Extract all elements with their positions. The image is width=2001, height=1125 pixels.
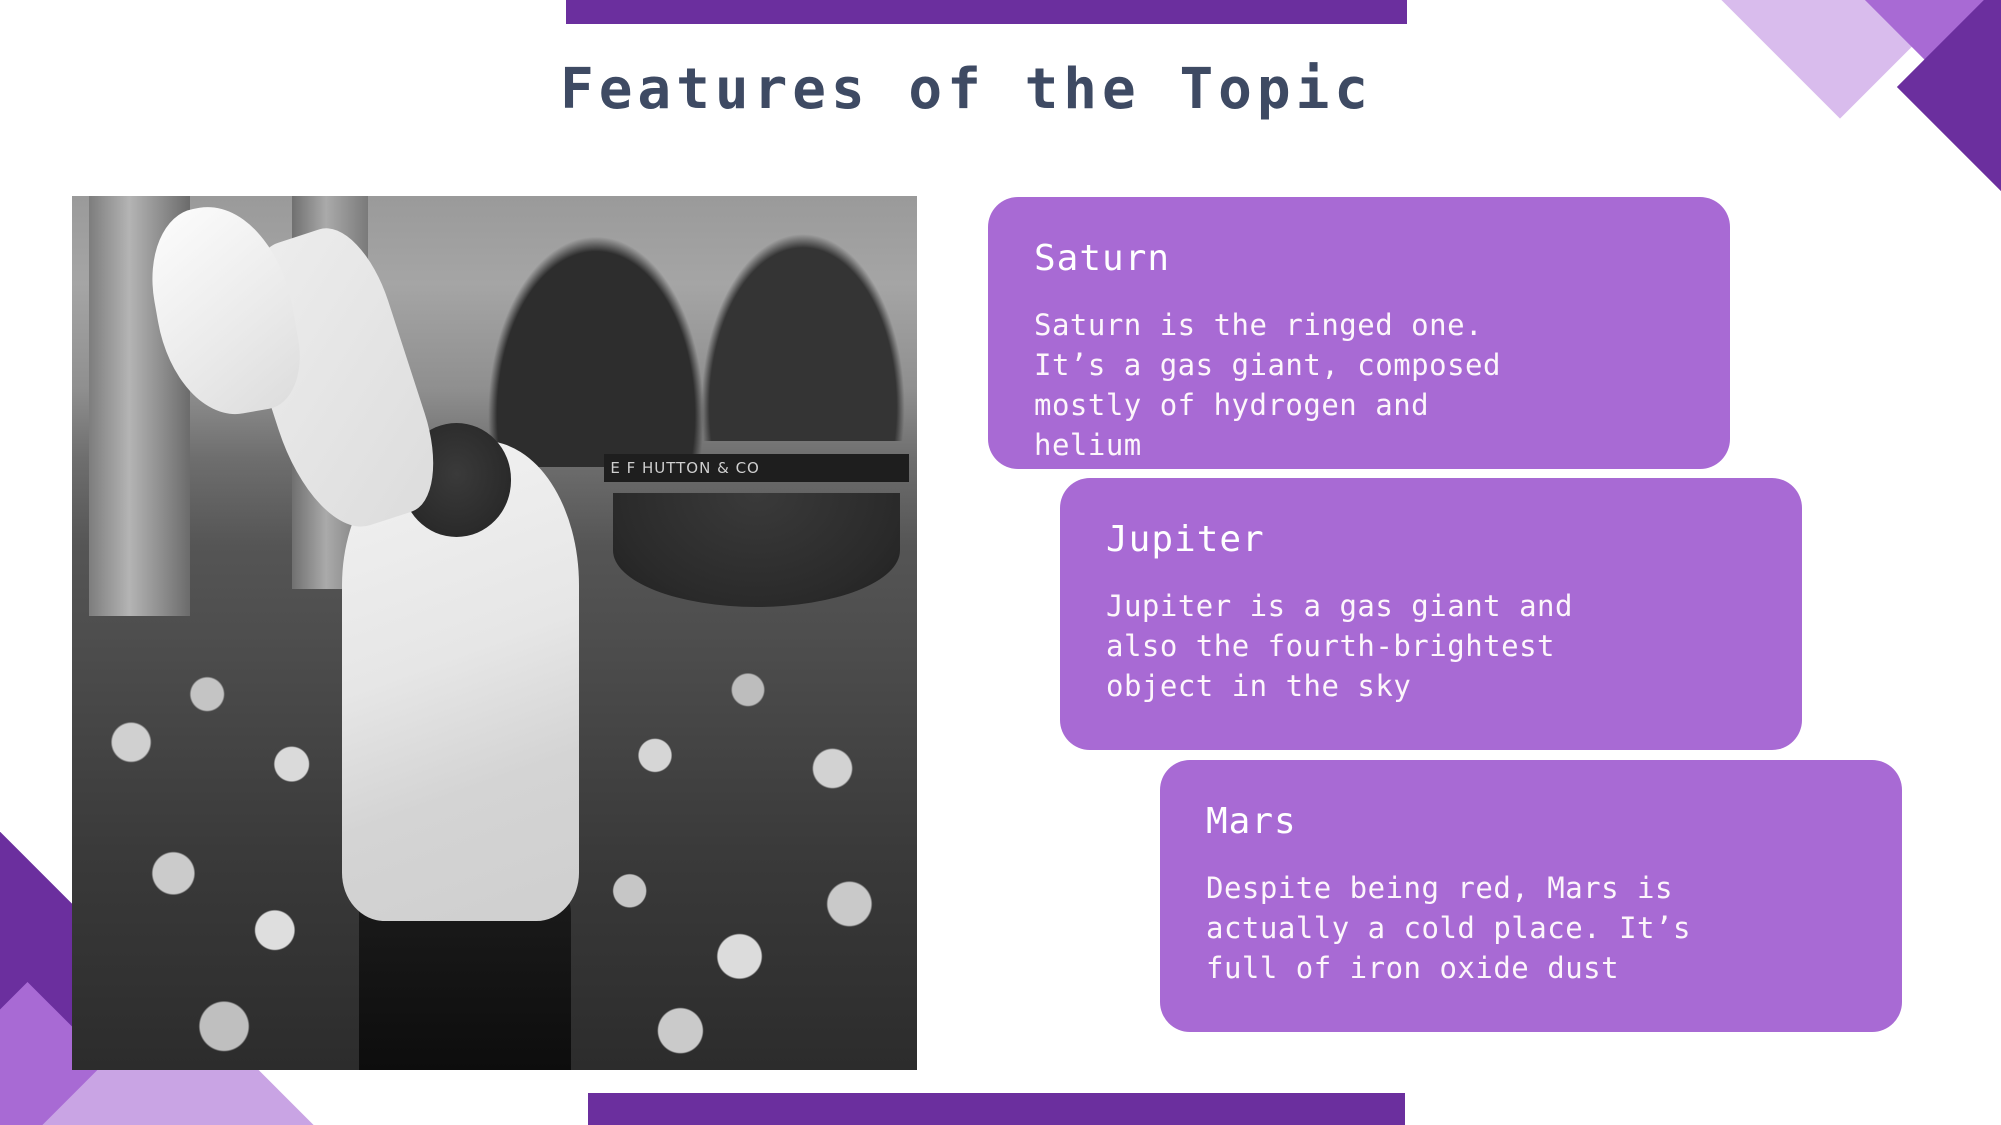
feature-card-title: Saturn — [1034, 239, 1684, 279]
feature-card-title: Jupiter — [1106, 520, 1756, 560]
feature-card-body: Despite being red, Mars is actually a co… — [1206, 868, 1856, 988]
top-accent-bar — [566, 0, 1407, 24]
feature-card-title: Mars — [1206, 802, 1856, 842]
feature-card-jupiter[interactable]: Jupiter Jupiter is a gas giant and also … — [1060, 478, 1802, 750]
feature-card-body: Jupiter is a gas giant and also the four… — [1106, 586, 1756, 706]
feature-card-saturn[interactable]: Saturn Saturn is the ringed one. It’s a … — [988, 197, 1730, 469]
presentation-slide: Features of the Topic E F HUTTON & CO Sa… — [0, 0, 2001, 1125]
photo-awning — [613, 493, 900, 607]
photo-archway-right — [689, 213, 917, 440]
feature-card-body: Saturn is the ringed one. It’s a gas gia… — [1034, 305, 1684, 465]
photo-archway-left — [469, 205, 723, 467]
feature-card-mars[interactable]: Mars Despite being red, Mars is actually… — [1160, 760, 1902, 1032]
slide-title: Features of the Topic — [560, 57, 1460, 122]
slide-photo: E F HUTTON & CO — [72, 196, 917, 1070]
photo-storefront-sign: E F HUTTON & CO — [604, 454, 908, 482]
bottom-accent-bar — [588, 1093, 1405, 1125]
